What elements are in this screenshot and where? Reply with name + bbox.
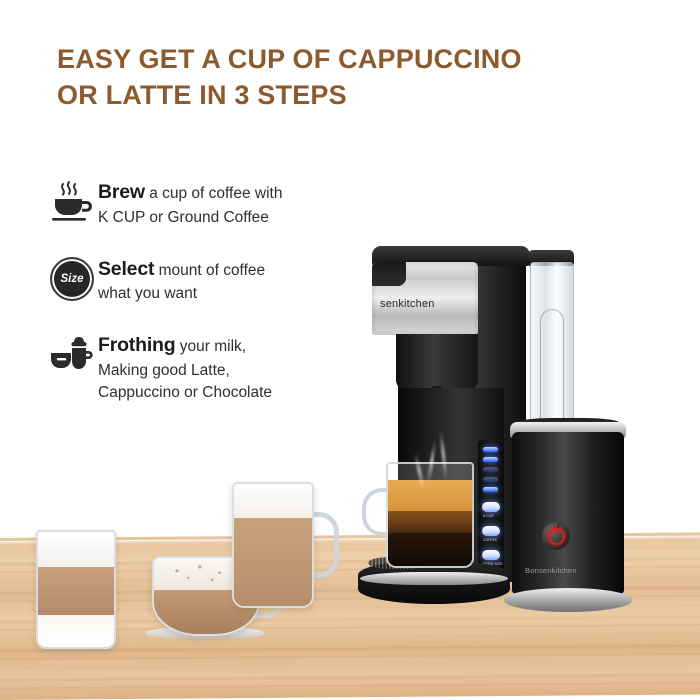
- milk-frother-base: [504, 588, 632, 612]
- product-marketing-image: EASY GET A CUP OF CAPPUCCINO OR LATTE IN…: [0, 0, 700, 700]
- product-scene: senkitchen K CUP COFFEE BREW SIZE: [0, 0, 700, 700]
- led-indicator-3: [483, 467, 498, 472]
- control-panel[interactable]: K CUP COFFEE BREW SIZE: [478, 440, 504, 572]
- coffee-maker-brand-label: senkitchen: [380, 298, 435, 310]
- power-button[interactable]: [542, 522, 570, 550]
- tall-latte-glass: [36, 530, 116, 649]
- coffee-button[interactable]: [482, 526, 500, 536]
- brew-size-button[interactable]: [482, 550, 500, 560]
- brew-head: [396, 334, 478, 390]
- milk-frother-brand-label: Bonsenkitchen: [525, 566, 577, 575]
- power-icon: [548, 528, 565, 545]
- kcup-button-label: K CUP: [483, 514, 494, 518]
- coffee-button-label: COFFEE: [483, 538, 497, 542]
- espresso-crema: [388, 480, 472, 511]
- espresso-mid: [388, 511, 472, 533]
- led-indicator-5: [483, 487, 498, 492]
- led-indicator-4: [483, 477, 498, 482]
- tall-latte-mug: [232, 482, 314, 608]
- espresso-body: [388, 533, 472, 566]
- led-indicator-2: [483, 457, 498, 462]
- drip-tray-steel-band: [360, 572, 508, 585]
- led-indicator-1: [483, 447, 498, 452]
- coffee-maker-steel-panel: senkitchen: [372, 262, 478, 335]
- kcup-button[interactable]: [482, 502, 500, 512]
